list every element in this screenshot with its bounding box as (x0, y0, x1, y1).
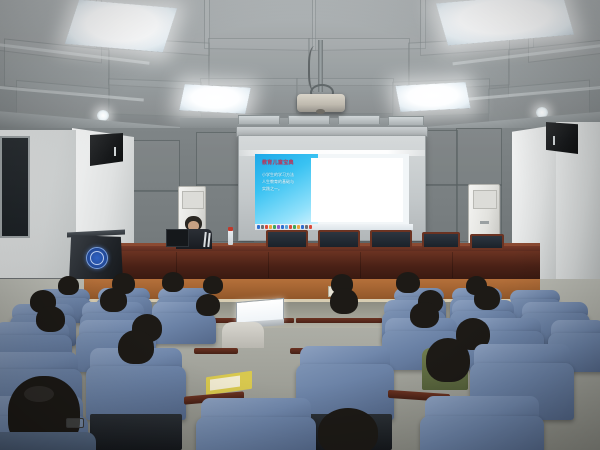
school-emblem (86, 247, 108, 269)
student-head (426, 338, 470, 382)
taskbar-icon (285, 225, 288, 229)
seat-base (90, 414, 182, 450)
taskbar-icon (273, 225, 276, 229)
student-body-foreground (0, 432, 96, 450)
slide-content-area (311, 158, 403, 222)
student-head (474, 286, 500, 310)
taskbar-icon (301, 225, 304, 229)
ceiling-vent (388, 116, 424, 126)
taskbar-icon (297, 225, 300, 229)
student-head (196, 294, 220, 316)
slide-body-line-3: 实践之一。 (262, 186, 314, 192)
water-bottle (228, 230, 233, 245)
slide-body-line-1: 小学生的学习方法 (262, 172, 314, 178)
head-table-chair (370, 230, 412, 249)
presenter-laptop (166, 229, 189, 247)
projected-slide: 教育儿童宝典 小学生的学习方法 人生教育的基础与 实践之一。 (255, 154, 409, 228)
speaker-left (90, 133, 123, 166)
student-head (36, 306, 65, 332)
ceiling-vent (288, 115, 330, 125)
taskbar-icon (293, 225, 296, 229)
taskbar-icon (305, 225, 308, 229)
ceiling-panel-light (65, 0, 177, 52)
head-table-chair (318, 230, 360, 249)
ceiling-vent (238, 115, 280, 125)
taskbar-icon (261, 225, 264, 229)
student-head (58, 276, 79, 295)
speaker-right (546, 122, 578, 154)
student-head (396, 272, 420, 293)
head-table-chair (266, 230, 308, 249)
window-panel (0, 136, 30, 238)
projector-lens (316, 109, 325, 114)
glasses (66, 418, 84, 428)
student-body (222, 322, 264, 348)
taskbar-icon (281, 225, 284, 229)
seat-row5[interactable] (196, 398, 316, 450)
desk-strip (296, 318, 382, 323)
head-table-chair (422, 232, 460, 249)
ceiling-vent (338, 115, 380, 125)
seat-armrest (194, 348, 238, 354)
taskbar-icon (269, 225, 272, 229)
head-table-chair (470, 234, 504, 250)
student-head (100, 288, 127, 312)
student-head (203, 276, 223, 294)
taskbar-icon (265, 225, 268, 229)
ceiling-panel-light (395, 82, 470, 112)
student-head-foreground (318, 408, 378, 450)
ceiling-panel-light (179, 84, 251, 113)
student-head (118, 330, 154, 364)
lecture-hall-photo: 教育儿童宝典 小学生的学习方法 人生教育的基础与 实践之一。 (0, 0, 600, 450)
podium (69, 235, 123, 281)
student-head (330, 288, 358, 314)
taskbar-icon (309, 225, 312, 229)
slide-body-line-2: 人生教育的基础与 (262, 179, 314, 185)
taskbar-icon (257, 225, 260, 229)
head-table-front (84, 251, 540, 279)
student-head (162, 272, 184, 292)
taskbar-icon (289, 225, 292, 229)
projection-screen: 教育儿童宝典 小学生的学习方法 人生教育的基础与 实践之一。 (238, 135, 426, 241)
seat-row5[interactable] (420, 396, 544, 450)
student-head (410, 302, 439, 328)
taskbar-icon (277, 225, 280, 229)
